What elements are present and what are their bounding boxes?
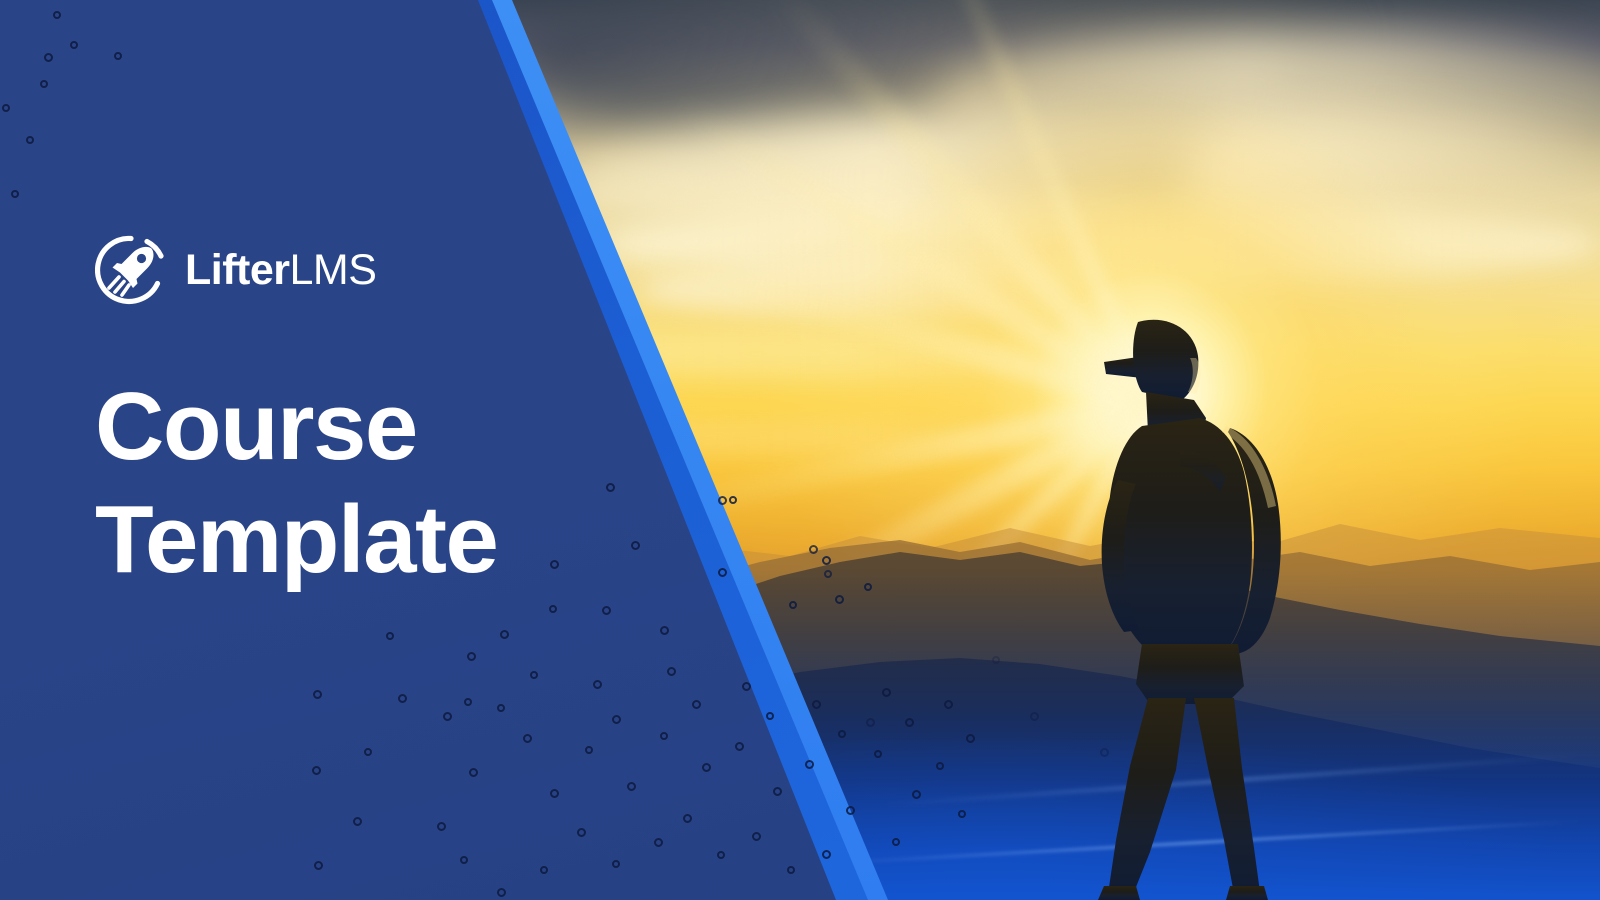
page-title-line-1: Course	[95, 370, 525, 483]
brand-name-bold: Lifter	[185, 246, 290, 294]
banner-content: LifterLMS Course Template	[95, 232, 525, 597]
page-title: Course Template	[95, 370, 525, 597]
course-template-banner: LifterLMS Course Template	[0, 0, 1600, 900]
brand-logo[interactable]: LifterLMS	[95, 232, 525, 308]
page-title-line-2: Template	[95, 483, 525, 596]
brand-name-light: LMS	[290, 246, 377, 294]
brand-wordmark: LifterLMS	[185, 249, 376, 292]
rocket-in-circle-icon	[95, 234, 167, 306]
